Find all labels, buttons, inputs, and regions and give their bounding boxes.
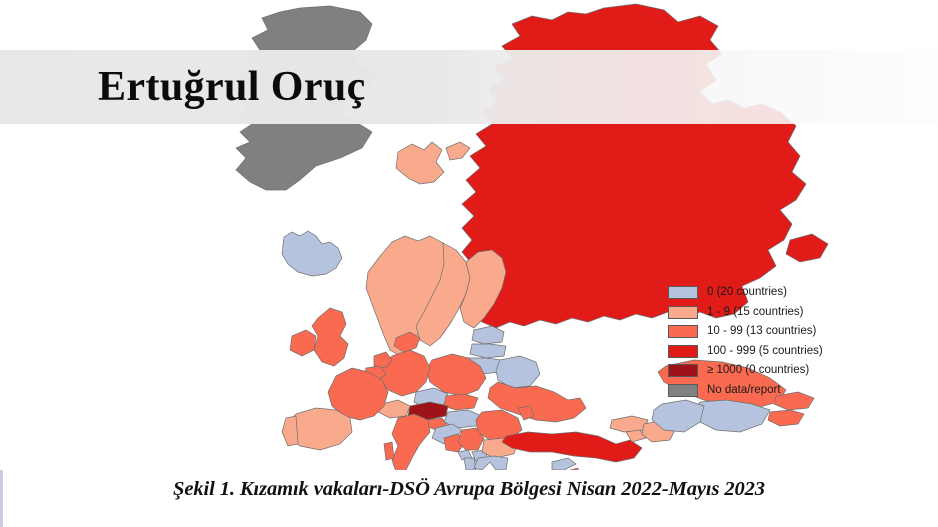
legend-item: 10 - 99 (13 countries) xyxy=(668,322,823,342)
legend-swatch-nodata xyxy=(668,384,698,397)
legend-label-zero: 0 (20 countries) xyxy=(707,287,787,299)
legend-label-high: 100 - 999 (5 countries) xyxy=(707,346,823,358)
legend-swatch-veryhigh xyxy=(668,364,698,377)
legend-item: 100 - 999 (5 countries) xyxy=(668,342,823,362)
legend-item: No data/report xyxy=(668,381,823,401)
map-legend: 0 (20 countries) 1 - 9 (15 countries) 10… xyxy=(668,283,823,400)
country-sardinia xyxy=(384,442,394,460)
slide-page: Ertuğrul Oruç 0 (20 countries) 1 - 9 (15… xyxy=(0,0,938,527)
legend-swatch-high xyxy=(668,345,698,358)
legend-label-veryhigh: ≥ 1000 (0 countries) xyxy=(707,365,809,377)
legend-label-low: 1 - 9 (15 countries) xyxy=(707,307,804,319)
title-banner: Ertuğrul Oruç xyxy=(0,50,938,124)
page-title: Ertuğrul Oruç xyxy=(98,63,366,111)
legend-item: ≥ 1000 (0 countries) xyxy=(668,361,823,381)
legend-item: 0 (20 countries) xyxy=(668,283,823,303)
legend-swatch-zero xyxy=(668,286,698,299)
country-slovakia xyxy=(444,394,478,410)
legend-label-nodata: No data/report xyxy=(707,385,781,397)
legend-swatch-low xyxy=(668,306,698,319)
legend-label-mid: 10 - 99 (13 countries) xyxy=(707,326,816,338)
legend-swatch-mid xyxy=(668,325,698,338)
legend-item: 1 - 9 (15 countries) xyxy=(668,303,823,323)
figure-caption: Şekil 1. Kızamık vakaları-DSÖ Avrupa Böl… xyxy=(0,478,938,501)
